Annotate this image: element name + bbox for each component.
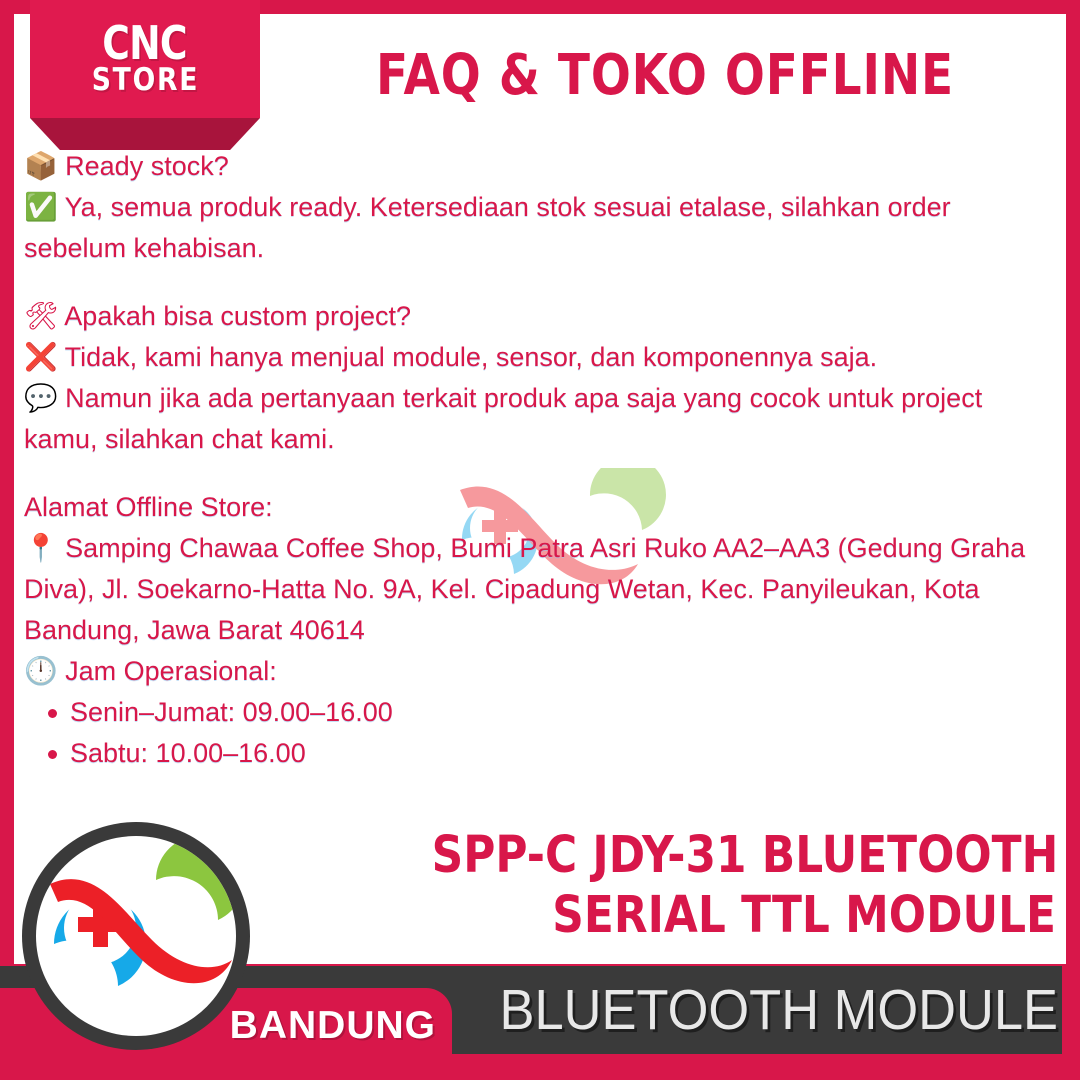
hours-label: 🕛 Jam Operasional: <box>24 651 1044 692</box>
product-title: SPP-C JDY-31 BLUETOOTH SERIAL TTL MODULE <box>432 826 1056 946</box>
faq-question-2: 🛠 Apakah bisa custom project? <box>24 296 1044 337</box>
product-poster: CNC STORE FAQ & TOKO OFFLINE 📦 Ready sto… <box>0 0 1080 1080</box>
faq-question-1-text: Ready stock? <box>65 151 229 181</box>
city-badge-label: BANDUNG <box>230 1004 436 1048</box>
faq-answer-2-text: Tidak, kami hanya menjual module, sensor… <box>65 342 877 372</box>
hammer-and-wrench-emoji: 🛠 <box>24 301 58 332</box>
faq-answer-3-text: Namun jika ada pertanyaan terkait produk… <box>24 383 982 454</box>
brand-logo-main: CNC <box>103 22 187 64</box>
check-mark-emoji: ✅ <box>24 192 58 223</box>
section-gap-1 <box>24 269 1044 296</box>
list-item: Senin–Jumat: 09.00–16.00 <box>70 692 1044 733</box>
store-address: 📍 Samping Chawaa Coffee Shop, Bumi Patra… <box>24 528 1044 651</box>
cross-mark-emoji: ❌ <box>24 342 58 373</box>
product-category: BLUETOOTH MODULE <box>414 966 1058 1054</box>
faq-content: 📦 Ready stock? ✅ Ya, semua produk ready.… <box>24 146 1044 774</box>
package-emoji: 📦 <box>24 151 58 182</box>
logo-inner <box>36 836 236 1036</box>
section-gap-2 <box>24 460 1044 487</box>
faq-answer-2: ❌ Tidak, kami hanya menjual module, sens… <box>24 337 1044 378</box>
faq-question-2-text: Apakah bisa custom project? <box>64 301 411 331</box>
list-item: Sabtu: 10.00–16.00 <box>70 733 1044 774</box>
hours-label-text: Jam Operasional: <box>65 656 277 686</box>
faq-answer-1: ✅ Ya, semua produk ready. Ketersediaan s… <box>24 187 1044 269</box>
speech-balloon-emoji: 💬 <box>24 383 58 414</box>
clock-emoji: 🕛 <box>24 656 58 687</box>
hours-list: Senin–Jumat: 09.00–16.00 Sabtu: 10.00–16… <box>24 692 1044 774</box>
product-title-line-2: SERIAL TTL MODULE <box>432 886 1056 946</box>
store-logo-badge <box>22 822 250 1050</box>
brand-logo: CNC STORE <box>30 0 260 118</box>
store-address-text: Samping Chawaa Coffee Shop, Bumi Patra A… <box>24 533 1025 645</box>
faq-answer-3: 💬 Namun jika ada pertanyaan terkait prod… <box>24 378 1044 460</box>
brand-logo-sub: STORE <box>91 65 198 96</box>
page-title: FAQ & TOKO OFFLINE <box>342 30 989 120</box>
product-title-line-1: SPP-C JDY-31 BLUETOOTH <box>432 826 1056 886</box>
map-pin-emoji: 📍 <box>24 533 58 564</box>
address-label: Alamat Offline Store: <box>24 487 1044 528</box>
faq-answer-1-text: Ya, semua produk ready. Ketersediaan sto… <box>24 192 951 263</box>
cnc-tab-fold <box>30 118 260 150</box>
faq-question-1: 📦 Ready stock? <box>24 146 1044 187</box>
